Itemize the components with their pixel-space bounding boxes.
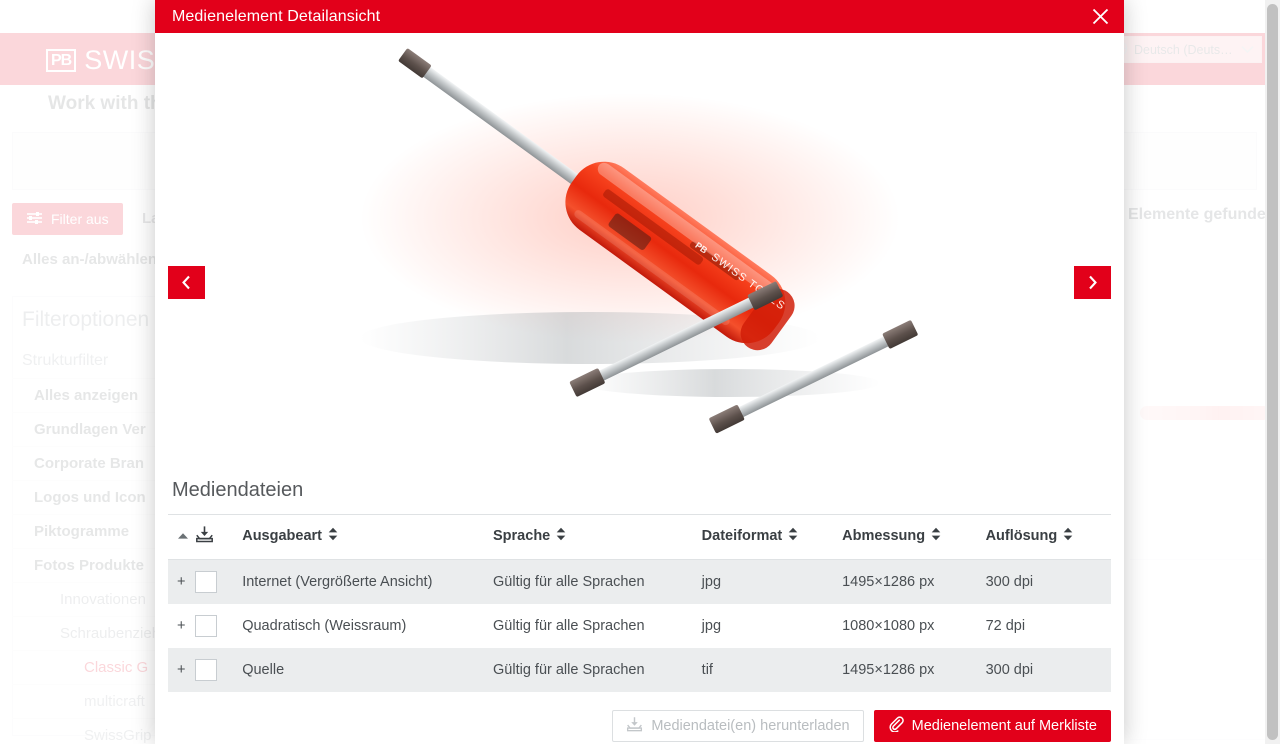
filter-options-title: Filteroptionen: [22, 308, 149, 332]
cell-language: Gültig für alle Sprachen: [493, 604, 702, 648]
column-file-format[interactable]: Dateiformat: [702, 515, 842, 560]
row-checkbox[interactable]: [195, 615, 217, 637]
media-detail-modal: Medienelement Detailansicht: [155, 0, 1124, 744]
sort-icon: [931, 527, 941, 545]
column-output-type[interactable]: Ausgabeart: [242, 515, 493, 560]
filter-toggle-button[interactable]: Filter aus: [12, 203, 123, 235]
language-selector[interactable]: Deutsch (Deuts…: [1105, 36, 1262, 63]
caret-up-icon: [177, 528, 189, 544]
cell-resolution: 300 dpi: [986, 648, 1111, 692]
cell-output-type: Quelle: [242, 648, 493, 692]
sort-icon: [328, 527, 338, 545]
media-files-actions: Mediendatei(en) herunterladen Medienelem…: [168, 692, 1111, 744]
table-row[interactable]: + Internet (Vergrößerte Ansicht) Gültig …: [168, 560, 1111, 605]
paperclip-icon: [888, 716, 904, 736]
page-scrollbar-thumb[interactable]: [1267, 4, 1278, 740]
row-checkbox-cell[interactable]: [195, 648, 242, 692]
media-viewer: SWISS TOOLS PB: [155, 33, 1124, 473]
page-scrollbar[interactable]: [1265, 0, 1280, 744]
download-icon: [626, 716, 643, 736]
column-resolution[interactable]: Auflösung: [986, 515, 1111, 560]
select-all-label[interactable]: Alles an-/abwählen: [22, 251, 157, 268]
cell-dimension: 1495×1286 px: [842, 560, 985, 605]
cell-output-type: Internet (Vergrößerte Ansicht): [242, 560, 493, 605]
result-thumbnail[interactable]: [1130, 380, 1280, 560]
table-row[interactable]: + Quadratisch (Weissraum) Gültig für all…: [168, 604, 1111, 648]
result-thumbnail[interactable]: [1130, 740, 1280, 744]
close-icon: [1092, 8, 1109, 25]
chevron-left-icon: [181, 275, 192, 290]
column-resolution-label: Auflösung: [986, 528, 1058, 544]
media-files-section: Mediendateien: [155, 473, 1124, 744]
cell-language: Gültig für alle Sprachen: [493, 648, 702, 692]
row-checkbox-cell[interactable]: [195, 560, 242, 605]
cell-file-format: jpg: [702, 604, 842, 648]
chevron-right-icon: [1087, 275, 1098, 290]
product-image: SWISS TOOLS PB: [260, 43, 1020, 463]
structure-filter-title: Strukturfilter: [22, 352, 108, 370]
row-checkbox-cell[interactable]: [195, 604, 242, 648]
chevron-down-icon: [1241, 43, 1254, 57]
sort-icon: [1063, 527, 1073, 545]
add-to-watchlist-button[interactable]: Medienelement auf Merkliste: [874, 710, 1111, 742]
column-output-type-label: Ausgabeart: [242, 528, 322, 544]
media-files-heading: Mediendateien: [168, 473, 1111, 514]
sliders-icon: [26, 211, 43, 228]
table-header: Ausgabeart Sprache: [168, 515, 1111, 560]
result-thumbnail-grid: [1130, 380, 1280, 744]
row-checkbox[interactable]: [195, 571, 217, 593]
download-icon: [195, 531, 214, 547]
sort-icon: [556, 527, 566, 545]
table-row[interactable]: + Quelle Gültig für alle Sprachen tif 14…: [168, 648, 1111, 692]
cell-resolution: 72 dpi: [986, 604, 1111, 648]
results-count-label: Elemente gefunden: [1128, 206, 1276, 224]
cell-dimension: 1495×1286 px: [842, 648, 985, 692]
column-dimension[interactable]: Abmessung: [842, 515, 985, 560]
download-media-files-button[interactable]: Mediendatei(en) herunterladen: [612, 710, 863, 742]
add-to-watchlist-label: Medienelement auf Merkliste: [912, 718, 1097, 734]
close-button[interactable]: [1076, 0, 1124, 33]
media-image: SWISS TOOLS PB: [155, 33, 1124, 473]
download-media-files-label: Mediendatei(en) herunterladen: [651, 718, 849, 734]
cell-output-type: Quadratisch (Weissraum): [242, 604, 493, 648]
previous-image-button[interactable]: [168, 266, 205, 299]
media-files-table: Ausgabeart Sprache: [168, 514, 1111, 692]
expand-row-button[interactable]: +: [168, 560, 195, 605]
result-thumbnail[interactable]: [1130, 560, 1280, 740]
cell-file-format: jpg: [702, 560, 842, 605]
cell-resolution: 300 dpi: [986, 560, 1111, 605]
column-download-all[interactable]: [195, 515, 242, 560]
modal-body: SWISS TOOLS PB: [155, 33, 1124, 744]
modal-titlebar: Medienelement Detailansicht: [155, 0, 1124, 33]
column-file-format-label: Dateiformat: [702, 528, 783, 544]
column-language-label: Sprache: [493, 528, 550, 544]
column-language[interactable]: Sprache: [493, 515, 702, 560]
row-checkbox[interactable]: [195, 659, 217, 681]
sort-icon: [788, 527, 798, 545]
language-value: Deutsch (Deuts…: [1134, 43, 1233, 57]
table-header-row: Ausgabeart Sprache: [168, 515, 1111, 560]
cell-file-format: tif: [702, 648, 842, 692]
filter-toggle-label: Filter aus: [51, 211, 109, 227]
cell-language: Gültig für alle Sprachen: [493, 560, 702, 605]
column-dimension-label: Abmessung: [842, 528, 925, 544]
expand-row-button[interactable]: +: [168, 604, 195, 648]
cell-dimension: 1080×1080 px: [842, 604, 985, 648]
table-body: + Internet (Vergrößerte Ansicht) Gültig …: [168, 560, 1111, 693]
column-expand[interactable]: [168, 515, 195, 560]
next-image-button[interactable]: [1074, 266, 1111, 299]
logo-mark: PB: [46, 49, 76, 72]
modal-title: Medienelement Detailansicht: [172, 8, 380, 26]
expand-row-button[interactable]: +: [168, 648, 195, 692]
